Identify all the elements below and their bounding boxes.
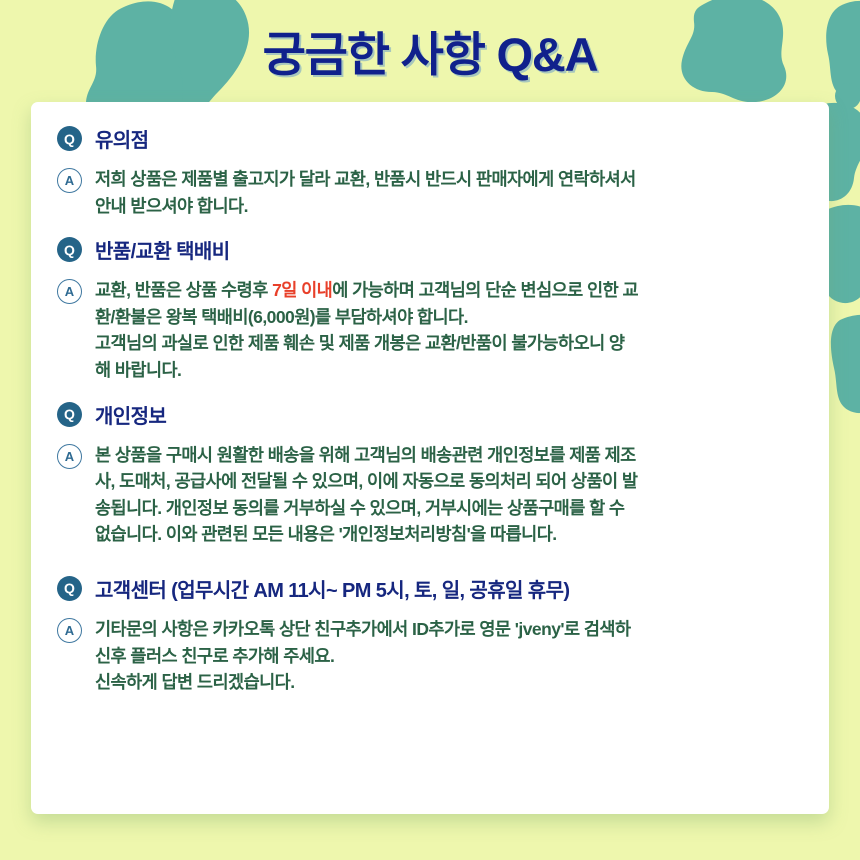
answer-highlight: 7일 이내 <box>272 280 332 300</box>
answer-text: 기타문의 사항은 카카오톡 상단 친구추가에서 ID추가로 영문 'jveny'… <box>95 616 631 696</box>
answer-text: 저희 상품은 제품별 출고지가 달라 교환, 반품시 반드시 판매자에게 연락하… <box>95 166 636 219</box>
answer-line: 해 바랍니다. <box>95 357 638 384</box>
answer-row: A본 상품을 구매시 원활한 배송을 위해 고객님의 배송관련 개인정보를 제품… <box>57 442 797 548</box>
answer-segment: 신속하게 답변 드리겠습니다. <box>95 672 295 692</box>
answer-line: 없습니다. 이와 관련된 모든 내용은 '개인정보처리방침'을 따릅니다. <box>95 521 637 548</box>
qa-list: Q유의점A저희 상품은 제품별 출고지가 달라 교환, 반품시 반드시 판매자에… <box>57 124 797 712</box>
answer-row: A교환, 반품은 상품 수령후 7일 이내에 가능하며 고객님의 단순 변심으로… <box>57 277 797 383</box>
answer-segment: 사, 도매처, 공급사에 전달될 수 있으며, 이에 자동으로 동의처리 되어 … <box>95 471 637 491</box>
answer-text: 본 상품을 구매시 원활한 배송을 위해 고객님의 배송관련 개인정보를 제품 … <box>95 442 637 548</box>
answer-line: 사, 도매처, 공급사에 전달될 수 있으며, 이에 자동으로 동의처리 되어 … <box>95 468 637 495</box>
answer-line: 안내 받으셔야 합니다. <box>95 193 636 220</box>
answer-segment: 신후 플러스 친구로 추가해 주세요. <box>95 646 334 666</box>
qa-block: Q반품/교환 택배비A교환, 반품은 상품 수령후 7일 이내에 가능하며 고객… <box>57 235 797 383</box>
question-title: 유의점 <box>95 124 148 153</box>
qa-block: Q고객센터 (업무시간 AM 11시~ PM 5시, 토, 일, 공휴일 휴무)… <box>57 574 797 696</box>
answer-badge-icon: A <box>57 279 82 304</box>
question-title: 반품/교환 택배비 <box>95 235 230 264</box>
answer-segment: 없습니다. 이와 관련된 모든 내용은 '개인정보처리방침'을 따릅니다. <box>95 524 557 544</box>
answer-segment: 환/환불은 왕복 택배비(6,000원)를 부담하셔야 합니다. <box>95 307 468 327</box>
answer-row: A기타문의 사항은 카카오톡 상단 친구추가에서 ID추가로 영문 'jveny… <box>57 616 797 696</box>
answer-row: A저희 상품은 제품별 출고지가 달라 교환, 반품시 반드시 판매자에게 연락… <box>57 166 797 219</box>
answer-line: 신속하게 답변 드리겠습니다. <box>95 669 631 696</box>
question-row[interactable]: Q반품/교환 택배비 <box>57 235 797 264</box>
answer-line: 교환, 반품은 상품 수령후 7일 이내에 가능하며 고객님의 단순 변심으로 … <box>95 277 638 304</box>
answer-segment: 기타문의 사항은 카카오톡 상단 친구추가에서 ID추가로 영문 'jveny'… <box>95 619 631 639</box>
question-badge-icon: Q <box>57 402 82 427</box>
answer-segment: 저희 상품은 제품별 출고지가 달라 교환, 반품시 반드시 판매자에게 연락하… <box>95 169 636 189</box>
question-badge-icon: Q <box>57 576 82 601</box>
question-title: 개인정보 <box>95 400 166 429</box>
answer-line: 본 상품을 구매시 원활한 배송을 위해 고객님의 배송관련 개인정보를 제품 … <box>95 442 637 469</box>
answer-badge-icon: A <box>57 168 82 193</box>
answer-badge-icon: A <box>57 444 82 469</box>
answer-line: 신후 플러스 친구로 추가해 주세요. <box>95 643 631 670</box>
question-row[interactable]: Q고객센터 (업무시간 AM 11시~ PM 5시, 토, 일, 공휴일 휴무) <box>57 574 797 603</box>
question-badge-icon: Q <box>57 237 82 262</box>
answer-segment: 교환, 반품은 상품 수령후 <box>95 280 272 300</box>
answer-segment: 해 바랍니다. <box>95 360 181 380</box>
page-header: 궁금한 사항 Q&A <box>0 0 860 100</box>
qa-block: Q개인정보A본 상품을 구매시 원활한 배송을 위해 고객님의 배송관련 개인정… <box>57 400 797 548</box>
answer-line: 송됩니다. 개인정보 동의를 거부하실 수 있으며, 거부시에는 상품구매를 할… <box>95 495 637 522</box>
answer-line: 저희 상품은 제품별 출고지가 달라 교환, 반품시 반드시 판매자에게 연락하… <box>95 166 636 193</box>
answer-line: 고객님의 과실로 인한 제품 훼손 및 제품 개봉은 교환/반품이 불가능하오니… <box>95 330 638 357</box>
answer-line: 환/환불은 왕복 택배비(6,000원)를 부담하셔야 합니다. <box>95 304 638 331</box>
answer-segment: 고객님의 과실로 인한 제품 훼손 및 제품 개봉은 교환/반품이 불가능하오니… <box>95 333 624 353</box>
question-title: 고객센터 (업무시간 AM 11시~ PM 5시, 토, 일, 공휴일 휴무) <box>95 574 569 603</box>
answer-segment: 에 가능하며 고객님의 단순 변심으로 인한 교 <box>332 280 638 300</box>
answer-badge-icon: A <box>57 618 82 643</box>
answer-segment: 송됩니다. 개인정보 동의를 거부하실 수 있으며, 거부시에는 상품구매를 할… <box>95 498 624 518</box>
question-badge-icon: Q <box>57 126 82 151</box>
question-row[interactable]: Q유의점 <box>57 124 797 153</box>
qa-block: Q유의점A저희 상품은 제품별 출고지가 달라 교환, 반품시 반드시 판매자에… <box>57 124 797 219</box>
question-row[interactable]: Q개인정보 <box>57 400 797 429</box>
answer-text: 교환, 반품은 상품 수령후 7일 이내에 가능하며 고객님의 단순 변심으로 … <box>95 277 638 383</box>
page-title: 궁금한 사항 Q&A <box>263 16 598 85</box>
answer-segment: 본 상품을 구매시 원활한 배송을 위해 고객님의 배송관련 개인정보를 제품 … <box>95 445 636 465</box>
answer-line: 기타문의 사항은 카카오톡 상단 친구추가에서 ID추가로 영문 'jveny'… <box>95 616 631 643</box>
answer-segment: 안내 받으셔야 합니다. <box>95 196 248 216</box>
qa-card: Q유의점A저희 상품은 제품별 출고지가 달라 교환, 반품시 반드시 판매자에… <box>31 102 829 814</box>
